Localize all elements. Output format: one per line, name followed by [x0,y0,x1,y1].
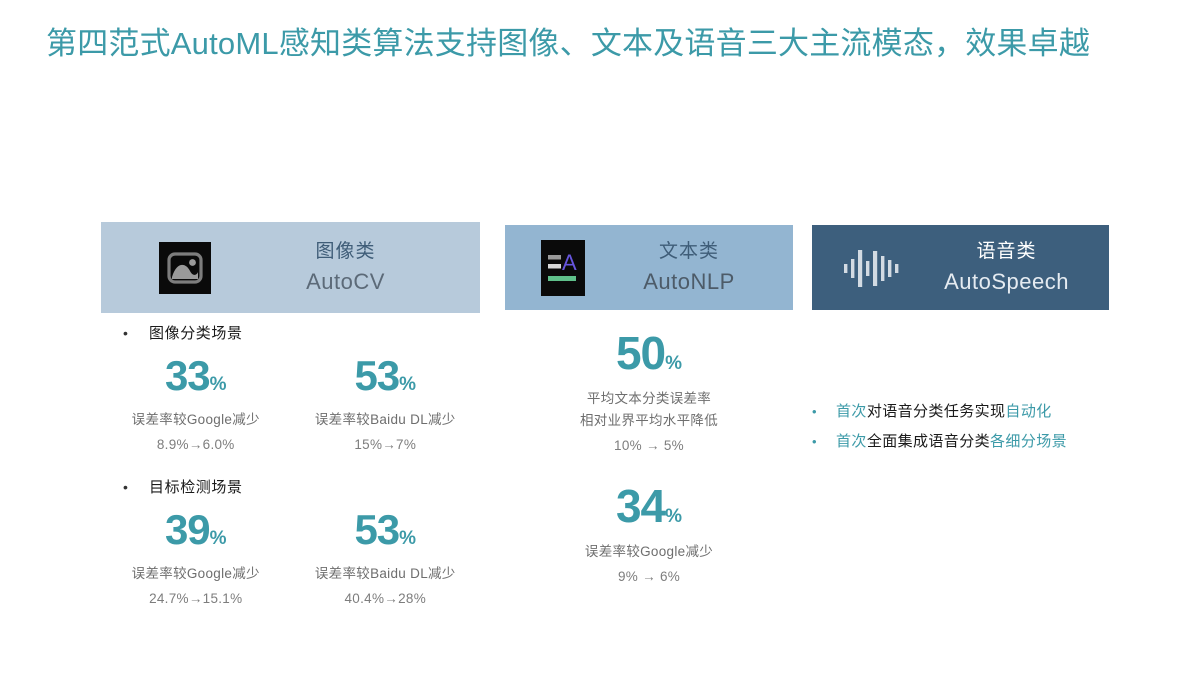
stat-value: 53% [291,355,481,397]
stat-description: 误差率较Google减少 [101,410,291,430]
stat-number: 53 [354,352,399,399]
item-mid: 全面集成语音分类 [867,433,990,450]
stat-delta: 40.4%→28% [291,591,481,606]
card-titles-autocv: 图像类 AutoCV [211,240,480,295]
stat-percent-sign: % [399,374,416,395]
section-heading-label: 目标检测场景 [149,476,243,497]
image-picture-icon [159,242,211,294]
stat-percent-sign: % [210,528,227,549]
card-cn-label-autospeech: 语音类 [976,240,1036,264]
audio-waveform-icon [842,245,904,291]
list-item-text: 首次对语音分类任务实现自动化 [836,397,1052,427]
content-column-autonlp: 50% 平均文本分类误差率 相对业界平均水平降低 10% → 5% 34% 误差… [505,322,793,584]
stat-number: 53 [354,506,399,553]
list-item: • 首次对语音分类任务实现自动化 [812,397,1109,427]
content-column-autocv: • 图像分类场景 33% 误差率较Google减少 8.9%→6.0% 53% … [101,322,480,606]
card-cn-label-autonlp: 文本类 [659,240,719,264]
highlight-tail: 各细分场景 [990,433,1067,450]
bullet-dot-icon: • [812,405,836,418]
stat-percent-sign: % [399,528,416,549]
highlight-lead: 首次 [836,403,867,420]
stat-delta: 8.9%→6.0% [101,437,291,452]
highlight-lead: 首次 [836,433,867,450]
speech-bullet-list: • 首次对语音分类任务实现自动化 • 首次全面集成语音分类各细分场景 [812,397,1109,457]
stat-value: 50% [505,330,793,376]
stat-block: 39% 误差率较Google减少 24.7%→15.1% [101,509,291,606]
stat-percent-sign: % [210,374,227,395]
item-mid: 对语音分类任务实现 [867,403,1006,420]
stat-row-image-classification: 33% 误差率较Google减少 8.9%→6.0% 53% 误差率较Baidu… [101,355,480,452]
card-en-label-autospeech: AutoSpeech [944,268,1069,296]
text-document-icon: A [541,240,585,296]
bullet-dot-icon: • [812,435,836,448]
stat-number: 39 [165,506,210,553]
text-document-icon-wrap: A [541,240,585,296]
stat-value: 39% [101,509,291,551]
image-picture-icon-wrap [159,242,211,294]
stat-description: 误差率较Baidu DL减少 [291,410,481,430]
stat-value: 33% [101,355,291,397]
card-header-autonlp: A 文本类 AutoNLP [505,225,793,310]
stat-delta: 9% → 6% [505,569,793,584]
stat-block: 53% 误差率较Baidu DL减少 15%→7% [291,355,481,452]
card-cn-label-autocv: 图像类 [315,240,375,264]
bullet-dot-icon: • [123,326,149,340]
stat-percent-sign: % [665,353,682,374]
card-en-label-autonlp: AutoNLP [643,268,735,296]
list-item-text: 首次全面集成语音分类各细分场景 [836,427,1067,457]
stat-delta: 15%→7% [291,437,481,452]
stat-value: 34% [505,483,793,529]
stat-block: 50% 平均文本分类误差率 相对业界平均水平降低 10% → 5% [505,330,793,453]
highlight-tail: 自动化 [1005,403,1051,420]
stat-value: 53% [291,509,481,551]
stat-description: 误差率较Baidu DL减少 [291,564,481,584]
bullet-dot-icon: • [123,480,149,494]
page-title: 第四范式AutoML感知类算法支持图像、文本及语音三大主流模态，效果卓越 [46,22,1136,66]
stat-block: 34% 误差率较Google减少 9% → 6% [505,483,793,584]
content-column-autospeech: • 首次对语音分类任务实现自动化 • 首次全面集成语音分类各细分场景 [812,322,1109,457]
stat-description-line1: 平均文本分类误差率 [505,389,793,409]
card-en-label-autocv: AutoCV [306,268,385,296]
stat-description-line1: 误差率较Google减少 [505,542,793,562]
section-heading-object-detection: • 目标检测场景 [123,476,480,497]
card-header-autospeech: 语音类 AutoSpeech [812,225,1109,310]
card-titles-autospeech: 语音类 AutoSpeech [904,240,1109,295]
card-header-autocv: 图像类 AutoCV [101,222,480,313]
stat-description-line2: 相对业界平均水平降低 [505,411,793,431]
section-heading-label: 图像分类场景 [149,322,243,343]
stat-delta: 24.7%→15.1% [101,591,291,606]
stat-percent-sign: % [665,506,682,527]
stat-block: 33% 误差率较Google减少 8.9%→6.0% [101,355,291,452]
svg-text:A: A [562,250,577,275]
stat-row-object-detection: 39% 误差率较Google减少 24.7%→15.1% 53% 误差率较Bai… [101,509,480,606]
stat-block: 53% 误差率较Baidu DL减少 40.4%→28% [291,509,481,606]
stat-number: 34 [616,480,665,532]
stat-delta: 10% → 5% [505,438,793,453]
stat-description: 误差率较Google减少 [101,564,291,584]
stat-number: 33 [165,352,210,399]
list-item: • 首次全面集成语音分类各细分场景 [812,427,1109,457]
stat-number: 50 [616,327,665,379]
section-heading-image-classification: • 图像分类场景 [123,322,480,343]
card-titles-autonlp: 文本类 AutoNLP [585,240,793,295]
audio-waveform-icon-wrap [842,245,904,291]
